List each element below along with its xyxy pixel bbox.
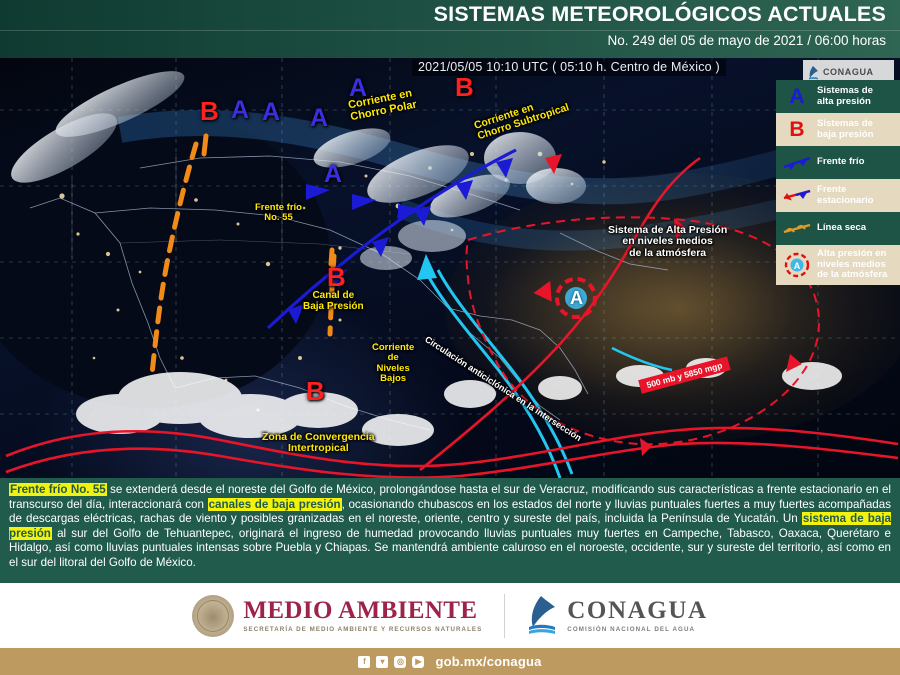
annotation-low-pressure-channel: Canal de Baja Presión	[303, 291, 364, 313]
low-pressure-symbol-itcz: B	[306, 378, 325, 404]
conagua-logo: CONAGUA COMISIÓN NACIONAL DEL AGUA	[527, 595, 707, 637]
annotation-cold-front-55: Frente frío No. 55	[255, 203, 302, 224]
medio-ambiente-title: MEDIO AMBIENTE	[243, 598, 482, 624]
high-pressure-symbol-5: A	[324, 162, 342, 187]
conagua-water-icon	[527, 595, 557, 637]
youtube-icon[interactable]: ▶	[412, 656, 424, 668]
weather-bulletin-page: SISTEMAS METEOROLÓGICOS ACTUALES No. 249…	[0, 0, 900, 675]
low-pressure-symbol-trough: B	[327, 264, 346, 290]
footer-divider	[504, 594, 505, 638]
map-graphics	[0, 58, 900, 478]
summary-text-3: al sur del Golfo de Tehuantepec, origina…	[9, 527, 891, 569]
page-header: SISTEMAS METEOROLÓGICOS ACTUALES No. 249…	[0, 0, 900, 58]
facebook-icon[interactable]: f	[358, 656, 370, 668]
conagua-title: CONAGUA	[567, 598, 707, 624]
legend-item-mid-level-high[interactable]: A Alta presión en niveles medios de la a…	[776, 245, 900, 285]
legend-item-low-pressure[interactable]: B Sistemas de baja presión	[776, 113, 900, 146]
legend-item-cold-front[interactable]: Frente frío	[776, 146, 900, 179]
high-pressure-symbol-1: A	[231, 98, 249, 123]
bulletin-number-date: No. 249 del 05 de mayo de 2021 / 06:00 h…	[608, 33, 886, 48]
map-legend: A Sistemas de alta presión B Sistemas de…	[776, 80, 900, 285]
high-pressure-symbol-2: A	[262, 100, 280, 125]
high-pressure-A-icon: A	[780, 82, 814, 112]
low-pressure-symbol-ne: B	[455, 74, 474, 100]
footer-logos: MEDIO AMBIENTE SECRETARÍA DE MEDIO AMBIE…	[0, 583, 900, 648]
conagua-subtitle: COMISIÓN NACIONAL DEL AGUA	[567, 626, 707, 633]
low-pressure-B-icon: B	[780, 115, 814, 145]
conagua-watermark-name: CONAGUA	[823, 67, 874, 77]
mid-level-high-icon: A	[780, 250, 814, 280]
legend-label-dry-line: Línea seca	[814, 223, 866, 234]
satellite-weather-map[interactable]: 2021/05/05 10:10 UTC ( 05:10 h. Centro d…	[0, 58, 900, 478]
low-pressure-symbol-nw: B	[200, 98, 219, 124]
svg-text:A: A	[794, 261, 801, 271]
legend-label-high-pressure: Sistemas de alta presión	[814, 86, 873, 107]
medio-ambiente-subtitle: SECRETARÍA DE MEDIO AMBIENTE Y RECURSOS …	[243, 626, 482, 633]
stationary-front-icon	[780, 181, 814, 211]
gob-mx-url[interactable]: gob.mx/conagua	[435, 654, 541, 669]
legend-item-stationary-front[interactable]: Frente estacionario	[776, 179, 900, 212]
legend-letter-a: A	[789, 86, 804, 107]
forecast-summary-panel: Frente frío No. 55 se extenderá desde el…	[0, 478, 900, 583]
summary-highlight-1: Frente frío No. 55	[9, 483, 107, 496]
annotation-mid-level-high: Sistema de Alta Presión en niveles medio…	[608, 225, 727, 259]
conagua-logo-icon	[808, 66, 819, 80]
mid-level-high-symbol: A	[570, 289, 583, 307]
high-pressure-symbol-3: A	[310, 106, 328, 131]
legend-label-stationary-front: Frente estacionario	[814, 185, 874, 206]
instagram-icon[interactable]: ◎	[394, 656, 406, 668]
twitter-icon[interactable]: ▾	[376, 656, 388, 668]
page-title: SISTEMAS METEOROLÓGICOS ACTUALES	[434, 2, 886, 27]
mexico-eagle-seal-icon	[192, 595, 234, 637]
summary-highlight-2: canales de baja presión	[208, 498, 342, 511]
legend-label-mid-level-high: Alta presión en niveles medios de la atm…	[814, 249, 887, 281]
annotation-itcz: Zona de Convergencia Intertropical	[262, 432, 375, 455]
legend-item-dry-line[interactable]: Línea seca	[776, 212, 900, 245]
medio-ambiente-logo: MEDIO AMBIENTE SECRETARÍA DE MEDIO AMBIE…	[192, 595, 482, 637]
forecast-summary-text: Frente frío No. 55 se extenderá desde el…	[9, 483, 891, 570]
legend-label-cold-front: Frente frío	[814, 157, 864, 168]
footer-social-bar: f ▾ ◎ ▶ gob.mx/conagua	[0, 648, 900, 675]
cold-front-icon	[780, 148, 814, 178]
legend-label-low-pressure: Sistemas de baja presión	[814, 119, 874, 140]
annotation-low-level-current: Corriente de Niveles Bajos	[372, 343, 414, 384]
legend-item-high-pressure[interactable]: A Sistemas de alta presión	[776, 80, 900, 113]
dry-line-icon	[780, 214, 814, 244]
